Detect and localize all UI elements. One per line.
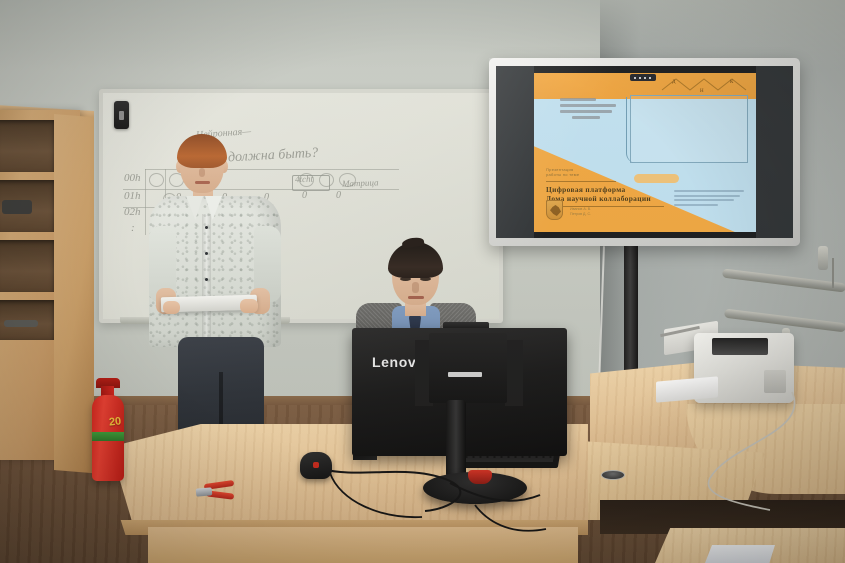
whiteboard-cell-3: 0 <box>302 190 307 201</box>
classroom-photo: Нейронная— должна быть? Матрица 4tcht 00… <box>0 0 845 563</box>
slide-author-0: Иванов А. В. <box>570 207 591 212</box>
svg-text:Н: Н <box>700 89 704 94</box>
shelf-object-dark <box>2 200 32 214</box>
extinguisher-number: 20 <box>108 415 121 428</box>
pliers-jaw <box>196 487 213 496</box>
slide-divider-bottom <box>546 206 664 207</box>
bookshelf-cell-3 <box>0 240 54 292</box>
whiteboard-oval-1 <box>149 173 164 187</box>
monitor-cables <box>300 455 600 555</box>
whiteboard-row-label-0: 00h <box>124 172 141 184</box>
red-handled-pliers[interactable] <box>196 481 236 503</box>
nose <box>412 282 419 293</box>
cable-grommet <box>601 470 625 480</box>
whiteboard-boxed-note: 4tcht <box>295 174 313 185</box>
shelf-object-flat <box>4 320 38 327</box>
slide-diagram-curve <box>626 97 636 163</box>
svg-text:Д: Д <box>672 80 676 85</box>
whiteboard-cell-4: 0 <box>336 190 341 201</box>
slide-callout-line-0 <box>560 98 596 101</box>
board-sensor-icon <box>114 101 129 129</box>
standing-student-hand-right <box>240 299 258 313</box>
slide-emblem-icon <box>546 200 563 220</box>
pipe-bracket <box>832 258 834 288</box>
tv-letterbox-right <box>756 66 793 238</box>
slide-body-line-3 <box>674 204 718 206</box>
monitor-vesa-housing <box>429 333 507 403</box>
monitor-vesa-slot <box>448 372 482 377</box>
slide-divider-top <box>546 181 616 182</box>
slide-callout-block <box>560 98 618 122</box>
slide-kicker: Презентация работы по теме <box>546 167 579 177</box>
svg-text:К: К <box>730 80 734 85</box>
extinguisher-band <box>92 432 124 441</box>
presentation-slide[interactable]: Д Н К Презентация работы по теме Цифрова… <box>534 73 756 232</box>
printer-top-slot <box>712 338 768 355</box>
bookshelf-side-panel <box>54 114 94 473</box>
standing-student-hand-left <box>163 301 180 314</box>
slide-body-line-2 <box>674 199 734 201</box>
pipe-valve-upper <box>818 246 828 270</box>
monitor-vesa-wing-right <box>505 340 523 406</box>
slide-kicker-line-1: работы по теме <box>546 172 579 177</box>
slide-author-1: Петров Д. С. <box>570 212 591 217</box>
printer-cable <box>700 392 845 512</box>
slide-callout-line-3 <box>572 116 600 119</box>
mouse-scroll-indicator <box>313 462 319 468</box>
nose <box>199 168 205 177</box>
slide-callout-line-2 <box>560 110 612 113</box>
paper-stack[interactable] <box>705 545 775 563</box>
slide-body-text <box>674 190 746 208</box>
whiteboard-row-label-3: : <box>131 222 135 234</box>
slide-next-pill-button[interactable] <box>634 174 679 183</box>
dna-diagram-icon: Д Н К <box>660 76 748 94</box>
slide-callout-line-1 <box>560 104 616 107</box>
slide-diagram-card <box>630 95 748 163</box>
slide-body-line-0 <box>674 190 744 192</box>
bookshelf-cell-1 <box>0 120 54 172</box>
tv-letterbox-left <box>496 66 534 238</box>
whiteboard-row-label-2: 02h <box>124 206 141 218</box>
whiteboard-row-label-1: 01h <box>124 190 141 202</box>
slide-camera-icon <box>630 74 656 81</box>
whiteboard-note-3: Матрица <box>342 177 379 188</box>
mouth <box>195 181 210 184</box>
slide-body-line-1 <box>674 195 740 197</box>
printer-front-cavity <box>764 370 786 393</box>
mouth <box>408 296 424 299</box>
slide-authors: Иванов А. В. Петров Д. С. <box>570 207 591 216</box>
whiteboard-grid-v-1 <box>145 169 146 235</box>
